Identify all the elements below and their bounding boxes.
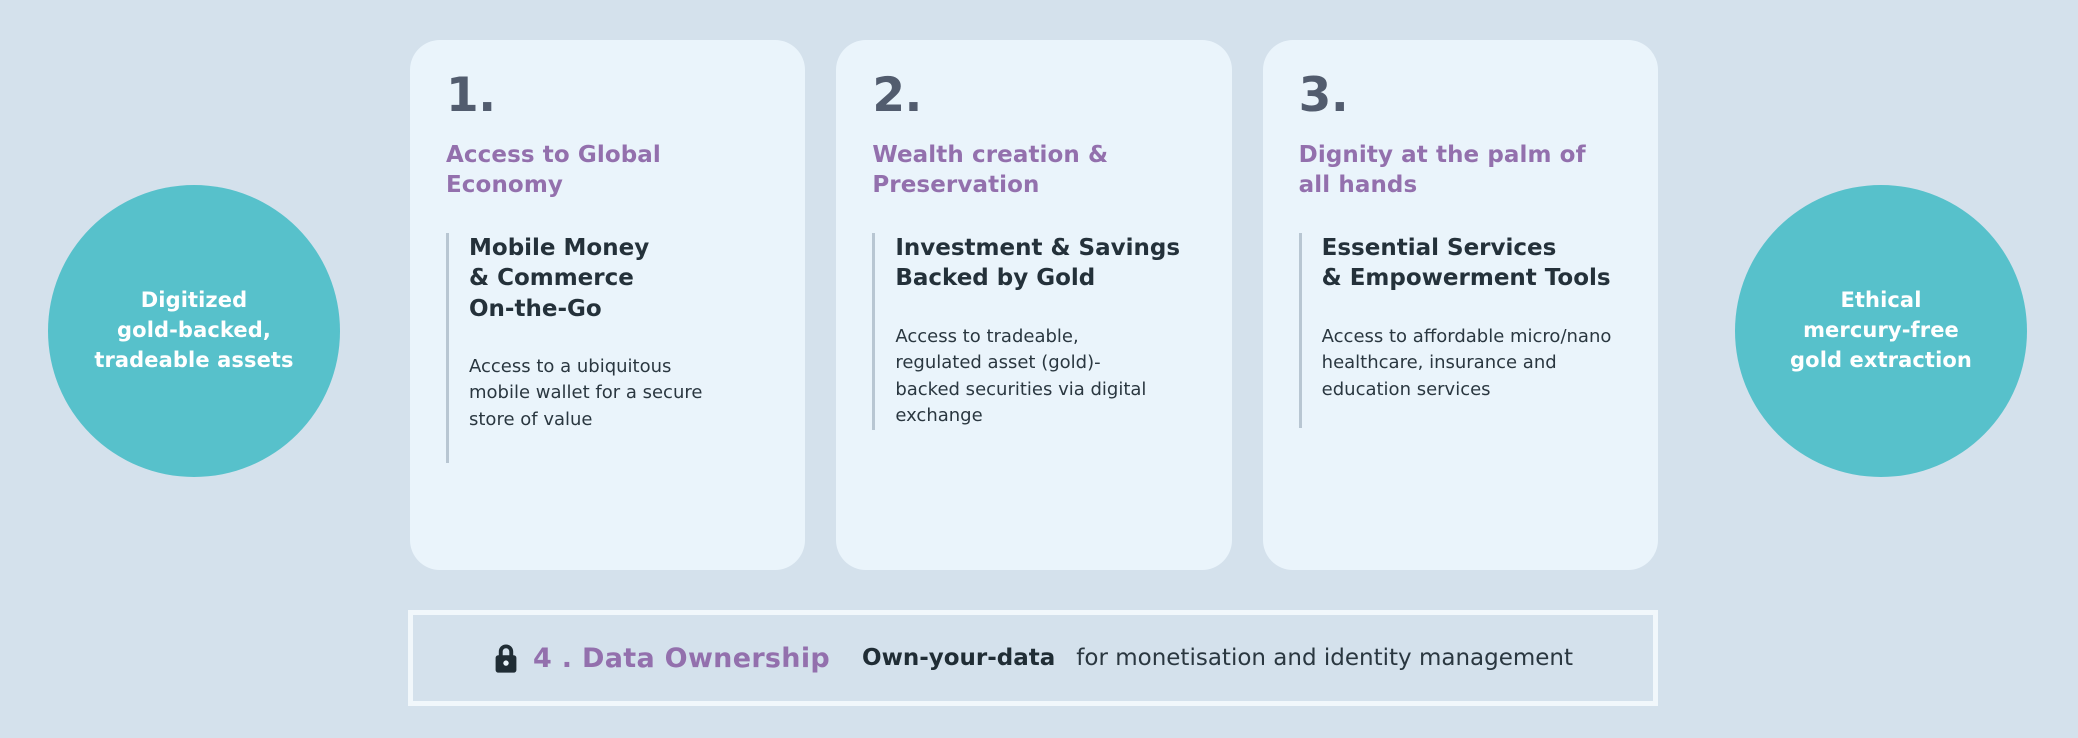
card-number: 2. [872,72,1195,119]
card-body: Mobile Money & Commerce On-the-Go Access… [446,233,769,463]
pillar-card-2[interactable]: 2. Wealth creation & Preservation Invest… [836,40,1231,570]
pillar-card-list: 1. Access to Global Economy Mobile Money… [410,40,1658,570]
card-description: Access to a ubiquitous mobile wallet for… [469,354,769,434]
banner-rest-text: for monetisation and identity management [1076,645,1573,671]
card-heading: Dignity at the palm of all hands [1299,141,1622,201]
card-heading: Wealth creation & Preservation [872,141,1195,201]
card-body: Essential Services & Empowerment Tools A… [1299,233,1622,428]
pillar-card-1[interactable]: 1. Access to Global Economy Mobile Money… [410,40,805,570]
right-circle-label: Ethical mercury-free gold extraction [1772,286,1990,375]
data-ownership-banner[interactable]: 4 . Data Ownership Own-your-data for mon… [408,610,1658,706]
left-circle-badge: Digitized gold-backed, tradeable assets [48,185,340,477]
card-description: Access to tradeable, regulated asset (go… [895,324,1195,431]
card-subtitle: Investment & Savings Backed by Gold [895,233,1195,294]
infographic-canvas: Digitized gold-backed, tradeable assets … [0,0,2078,738]
card-subtitle: Mobile Money & Commerce On-the-Go [469,233,769,324]
card-number: 1. [446,72,769,119]
banner-number-label: 4 . Data Ownership [533,643,830,674]
card-number: 3. [1299,72,1622,119]
left-circle-label: Digitized gold-backed, tradeable assets [76,286,311,375]
right-circle-badge: Ethical mercury-free gold extraction [1735,185,2027,477]
card-body: Investment & Savings Backed by Gold Acce… [872,233,1195,430]
lock-icon [493,643,519,674]
card-heading: Access to Global Economy [446,141,769,201]
banner-strong-text: Own-your-data [862,645,1055,671]
card-subtitle: Essential Services & Empowerment Tools [1322,233,1622,294]
card-description: Access to affordable micro/nano healthca… [1322,324,1622,404]
pillar-card-3[interactable]: 3. Dignity at the palm of all hands Esse… [1263,40,1658,570]
